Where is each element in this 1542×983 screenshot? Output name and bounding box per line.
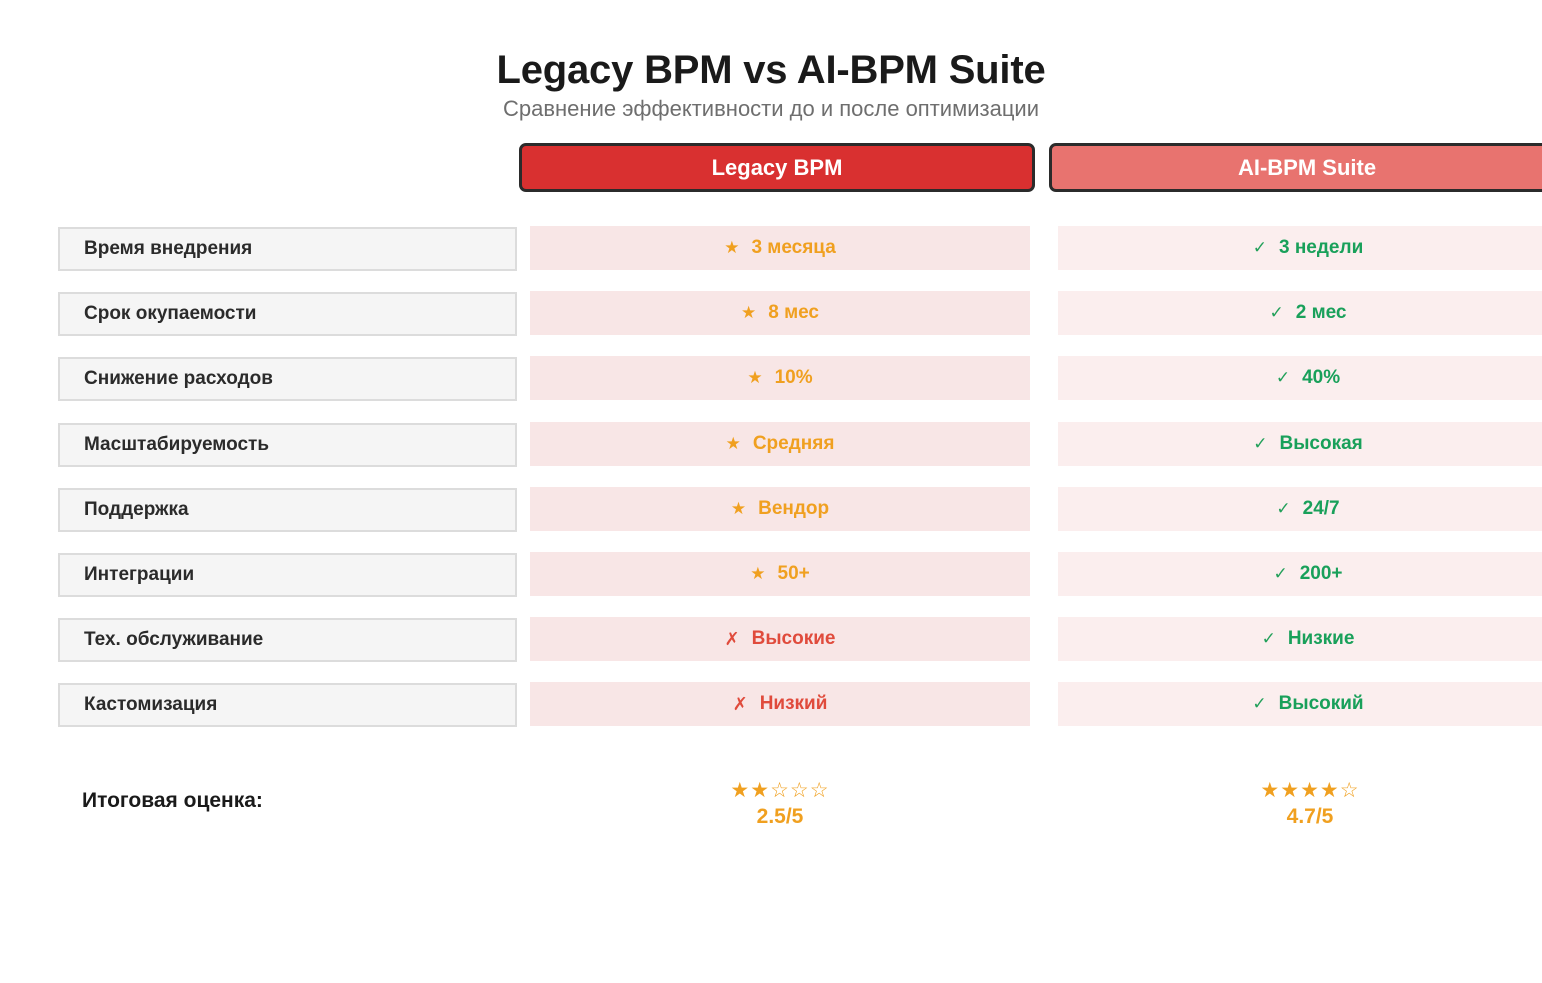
row-label: Кастомизация xyxy=(58,683,517,727)
row-label: Время внедрения xyxy=(58,227,517,271)
row-label: Срок окупаемости xyxy=(58,292,517,336)
cell-value: Средняя xyxy=(753,433,835,455)
column-header-legacy-label: Legacy BPM xyxy=(712,155,843,181)
cell-modern: ✓2 мес xyxy=(1058,291,1542,335)
cell-legacy: ★Средняя xyxy=(530,422,1030,466)
star-icon: ★ xyxy=(726,434,741,454)
comparison-table: Legacy BPM vs AI-BPM Suite Сравнение эфф… xyxy=(0,0,1542,983)
cell-value: 3 недели xyxy=(1279,237,1363,259)
check-icon: ✓ xyxy=(1273,564,1287,584)
cell-modern: ✓3 недели xyxy=(1058,226,1542,270)
final-rating-legacy: ★★☆☆☆ 2.5/5 xyxy=(650,780,910,829)
row-label: Тех. обслуживание xyxy=(58,618,517,662)
cell-modern: ✓40% xyxy=(1058,356,1542,400)
cell-modern: ✓Высокая xyxy=(1058,422,1542,466)
cell-legacy: ★50+ xyxy=(530,552,1030,596)
cell-modern: ✓Высокий xyxy=(1058,682,1542,726)
final-score-modern: 4.7/5 xyxy=(1180,804,1440,829)
final-score-label: Итоговая оценка: xyxy=(82,789,263,813)
check-icon: ✓ xyxy=(1262,629,1276,649)
row-label: Интеграции xyxy=(58,553,517,597)
page-subtitle: Сравнение эффективности до и после оптим… xyxy=(0,96,1542,122)
cell-legacy: ★10% xyxy=(530,356,1030,400)
star-icon: ★ xyxy=(747,368,762,388)
row-label: Масштабируемость xyxy=(58,423,517,467)
check-icon: ✓ xyxy=(1253,238,1267,258)
page-title: Legacy BPM vs AI-BPM Suite xyxy=(0,48,1542,93)
cell-value: 10% xyxy=(775,367,813,389)
cross-icon: ✗ xyxy=(725,629,740,650)
row-label: Снижение расходов xyxy=(58,357,517,401)
final-score-legacy: 2.5/5 xyxy=(650,804,910,829)
column-header-modern-label: AI-BPM Suite xyxy=(1238,155,1376,181)
cell-value: Вендор xyxy=(758,498,829,520)
star-icon: ★ xyxy=(750,564,765,584)
column-header-legacy: Legacy BPM xyxy=(519,143,1035,192)
cell-value: 3 месяца xyxy=(751,237,835,259)
star-rating-icon: ★★☆☆☆ xyxy=(650,780,910,802)
cell-value: Высокий xyxy=(1279,693,1364,715)
cell-value: 8 мес xyxy=(768,302,819,324)
cell-legacy: ★Вендор xyxy=(530,487,1030,531)
cell-value: Низкий xyxy=(760,693,828,715)
cell-legacy: ✗Высокие xyxy=(530,617,1030,661)
cell-legacy: ★8 мес xyxy=(530,291,1030,335)
check-icon: ✓ xyxy=(1252,694,1266,714)
cell-legacy: ★3 месяца xyxy=(530,226,1030,270)
row-label: Поддержка xyxy=(58,488,517,532)
cell-modern: ✓200+ xyxy=(1058,552,1542,596)
cell-legacy: ✗Низкий xyxy=(530,682,1030,726)
cell-value: Высокая xyxy=(1279,433,1362,455)
cell-value: 50+ xyxy=(778,563,810,585)
cell-value: 24/7 xyxy=(1303,498,1340,520)
star-icon: ★ xyxy=(724,238,739,258)
cell-value: 40% xyxy=(1302,367,1340,389)
cell-modern: ✓24/7 xyxy=(1058,487,1542,531)
final-rating-modern: ★★★★☆ 4.7/5 xyxy=(1180,780,1440,829)
cell-modern: ✓Низкие xyxy=(1058,617,1542,661)
cross-icon: ✗ xyxy=(733,694,748,715)
cell-value: Низкие xyxy=(1288,628,1355,650)
cell-value: 200+ xyxy=(1300,563,1343,585)
check-icon: ✓ xyxy=(1269,303,1283,323)
check-icon: ✓ xyxy=(1276,499,1290,519)
star-icon: ★ xyxy=(731,499,746,519)
check-icon: ✓ xyxy=(1253,434,1267,454)
cell-value: 2 мес xyxy=(1296,302,1347,324)
star-icon: ★ xyxy=(741,303,756,323)
check-icon: ✓ xyxy=(1276,368,1290,388)
star-rating-icon: ★★★★☆ xyxy=(1180,780,1440,802)
cell-value: Высокие xyxy=(752,628,836,650)
column-header-modern: AI-BPM Suite xyxy=(1049,143,1542,192)
